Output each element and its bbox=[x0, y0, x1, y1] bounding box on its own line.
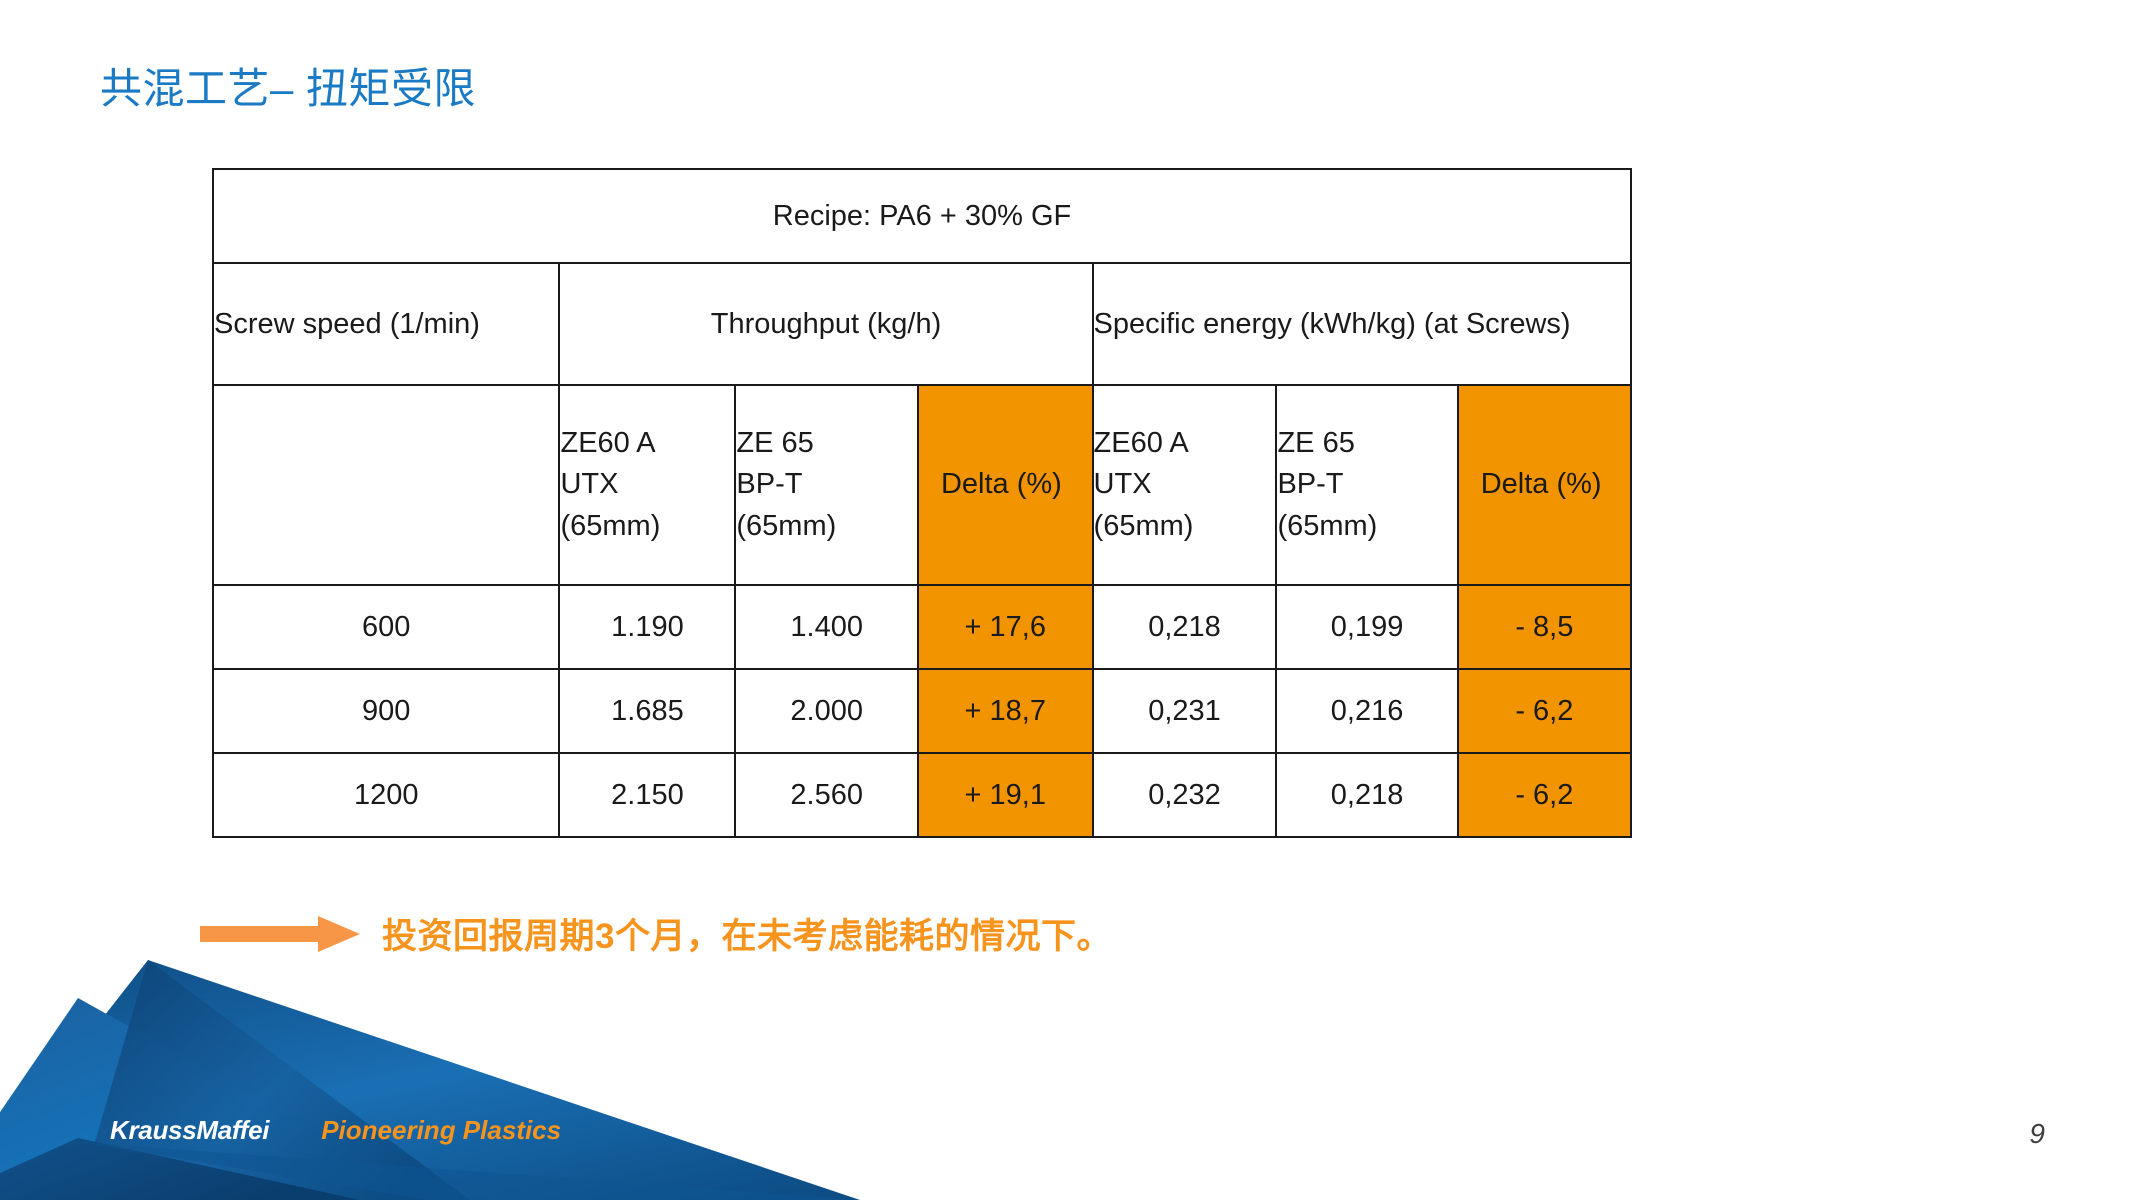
cell-screw-speed: 600 bbox=[213, 585, 559, 669]
column-header-screw-speed: Screw speed (1/min) bbox=[213, 263, 559, 385]
column-header-throughput: Throughput (kg/h) bbox=[559, 263, 1092, 385]
page-number: 9 bbox=[2029, 1118, 2045, 1150]
subheader-line-3: (65mm) bbox=[1094, 506, 1276, 547]
cell-throughput-a: 1.190 bbox=[559, 585, 735, 669]
roi-callout-text: 投资回报周期3个月，在未考虑能耗的情况下。 bbox=[382, 908, 1112, 959]
mountain-shape-facet bbox=[78, 960, 470, 1200]
subheader-line-1: ZE 65 bbox=[1277, 423, 1456, 464]
table-row-group-headers: Screw speed (1/min) Throughput (kg/h) Sp… bbox=[213, 263, 1631, 385]
subheader-line-2: BP-T bbox=[736, 464, 917, 505]
cell-energy-b: 0,218 bbox=[1276, 753, 1457, 837]
cell-energy-a: 0,218 bbox=[1093, 585, 1277, 669]
subheader-line-3: (65mm) bbox=[1277, 506, 1456, 547]
subheader-throughput-ze65bpt: ZE 65 BP-T (65mm) bbox=[735, 385, 918, 585]
roi-callout: 投资回报周期3个月，在未考虑能耗的情况下。 bbox=[200, 908, 1112, 959]
mountain-shape-back bbox=[0, 960, 860, 1200]
column-header-specific-energy: Specific energy (kWh/kg) (at Screws) bbox=[1093, 263, 1631, 385]
subheader-line-1: ZE60 A bbox=[560, 423, 734, 464]
brand-lockup: KraussMaffei Pioneering Plastics bbox=[110, 1115, 561, 1146]
cell-throughput-b: 1.400 bbox=[735, 585, 918, 669]
subheader-line-2: UTX bbox=[1094, 464, 1276, 505]
cell-throughput-delta: + 17,6 bbox=[918, 585, 1093, 669]
table-row: 900 1.685 2.000 + 18,7 0,231 0,216 - 6,2 bbox=[213, 669, 1631, 753]
brand-name: KraussMaffei bbox=[110, 1115, 269, 1146]
subheader-line-2: BP-T bbox=[1277, 464, 1456, 505]
cell-throughput-delta: + 18,7 bbox=[918, 669, 1093, 753]
footer-mountain-graphic bbox=[0, 920, 860, 1200]
cell-throughput-a: 1.685 bbox=[559, 669, 735, 753]
results-table-container: Recipe: PA6 + 30% GF Screw speed (1/min)… bbox=[212, 168, 1632, 838]
mountain-shape-sweep bbox=[78, 1142, 860, 1200]
cell-screw-speed: 900 bbox=[213, 669, 559, 753]
table-row-sub-headers: ZE60 A UTX (65mm) ZE 65 BP-T (65mm) Delt… bbox=[213, 385, 1631, 585]
cell-energy-delta: - 6,2 bbox=[1458, 669, 1631, 753]
cell-throughput-b: 2.560 bbox=[735, 753, 918, 837]
recipe-header-cell: Recipe: PA6 + 30% GF bbox=[213, 169, 1631, 263]
cell-energy-b: 0,216 bbox=[1276, 669, 1457, 753]
cell-energy-a: 0,231 bbox=[1093, 669, 1277, 753]
cell-energy-b: 0,199 bbox=[1276, 585, 1457, 669]
cell-energy-a: 0,232 bbox=[1093, 753, 1277, 837]
subheader-line-2: UTX bbox=[560, 464, 734, 505]
results-table: Recipe: PA6 + 30% GF Screw speed (1/min)… bbox=[212, 168, 1632, 838]
cell-energy-delta: - 6,2 bbox=[1458, 753, 1631, 837]
cell-throughput-b: 2.000 bbox=[735, 669, 918, 753]
subheader-blank bbox=[213, 385, 559, 585]
cell-throughput-delta: + 19,1 bbox=[918, 753, 1093, 837]
cell-energy-delta: - 8,5 bbox=[1458, 585, 1631, 669]
subheader-line-1: ZE 65 bbox=[736, 423, 917, 464]
subheader-throughput-ze60a: ZE60 A UTX (65mm) bbox=[559, 385, 735, 585]
table-row: 600 1.190 1.400 + 17,6 0,218 0,199 - 8,5 bbox=[213, 585, 1631, 669]
subheader-line-1: ZE60 A bbox=[1094, 423, 1276, 464]
cell-screw-speed: 1200 bbox=[213, 753, 559, 837]
page-title: 共混工艺– 扭矩受限 bbox=[100, 55, 476, 116]
mountain-shape-foreground bbox=[0, 1138, 360, 1200]
subheader-energy-ze65bpt: ZE 65 BP-T (65mm) bbox=[1276, 385, 1457, 585]
table-row: 1200 2.150 2.560 + 19,1 0,232 0,218 - 6,… bbox=[213, 753, 1631, 837]
subheader-throughput-delta: Delta (%) bbox=[918, 385, 1093, 585]
brand-tagline: Pioneering Plastics bbox=[321, 1115, 561, 1146]
subheader-line-3: (65mm) bbox=[736, 506, 917, 547]
mountain-shape-left bbox=[0, 998, 440, 1200]
table-row-recipe: Recipe: PA6 + 30% GF bbox=[213, 169, 1631, 263]
right-arrow-icon bbox=[200, 914, 360, 954]
subheader-line-3: (65mm) bbox=[560, 506, 734, 547]
subheader-energy-ze60a: ZE60 A UTX (65mm) bbox=[1093, 385, 1277, 585]
subheader-energy-delta: Delta (%) bbox=[1458, 385, 1631, 585]
cell-throughput-a: 2.150 bbox=[559, 753, 735, 837]
